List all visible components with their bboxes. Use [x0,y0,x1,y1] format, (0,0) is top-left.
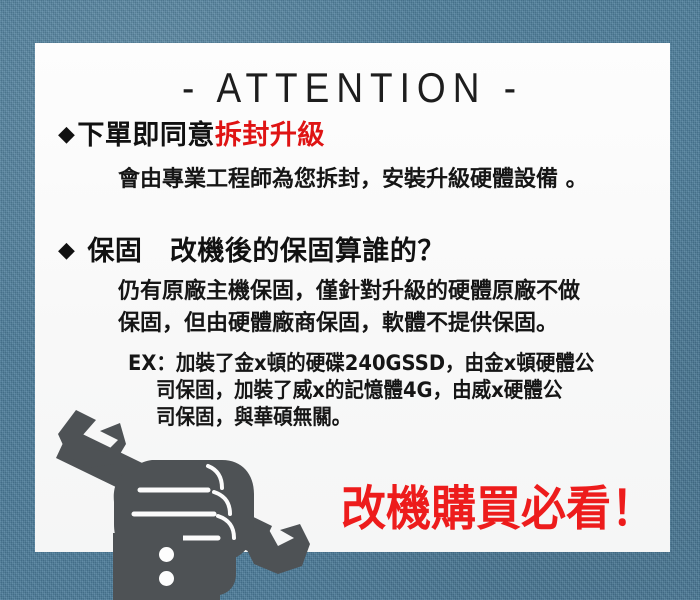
section-heading-1-black: 下單即同意 [77,120,215,151]
diamond-bullet-icon: ◆ [58,238,75,263]
example-line-2: 司保固，加裝了威x的記憶體4G，由威x硬體公 [156,374,562,404]
sleeve-cuff [113,533,183,600]
page-title: - ATTENTION - [35,65,670,112]
section-heading-1-red: 拆封升級 [215,120,325,151]
white-content-card: - ATTENTION - ◆下單即同意拆封升級 會由專業工程師為您拆封，安裝升… [35,43,670,552]
red-headline: 改機購買必看！ [341,470,656,539]
section-heading-2: ◆ 保固 改機後的保固算誰的？ [58,229,445,268]
sleeve-button-1 [159,547,174,562]
example-line-3: 司保固，與華碩無關。 [156,401,351,431]
section-2-line-1: 仍有原廠主機保固，僅針對升級的硬體原廠不做 [118,273,580,305]
section-heading-1: ◆下單即同意拆封升級 [58,113,325,152]
sleeve-body [113,533,183,600]
section-2-line-2: 保固，但由硬體廠商保固，軟體不提供保固。 [118,305,558,337]
sleeve-button-2 [159,571,174,586]
example-line-1: EX：加裝了金x頓的硬碟240GSSD，由金x頓硬體公 [128,347,594,377]
diamond-bullet-icon: ◆ [58,122,75,147]
section-heading-2-black: 保固 改機後的保固算誰的？ [77,236,444,267]
attention-poster: - ATTENTION - ◆下單即同意拆封升級 會由專業工程師為您拆封，安裝升… [0,0,700,600]
section-1-line-1: 會由專業工程師為您拆封，安裝升級硬體設備 。 [118,161,588,193]
